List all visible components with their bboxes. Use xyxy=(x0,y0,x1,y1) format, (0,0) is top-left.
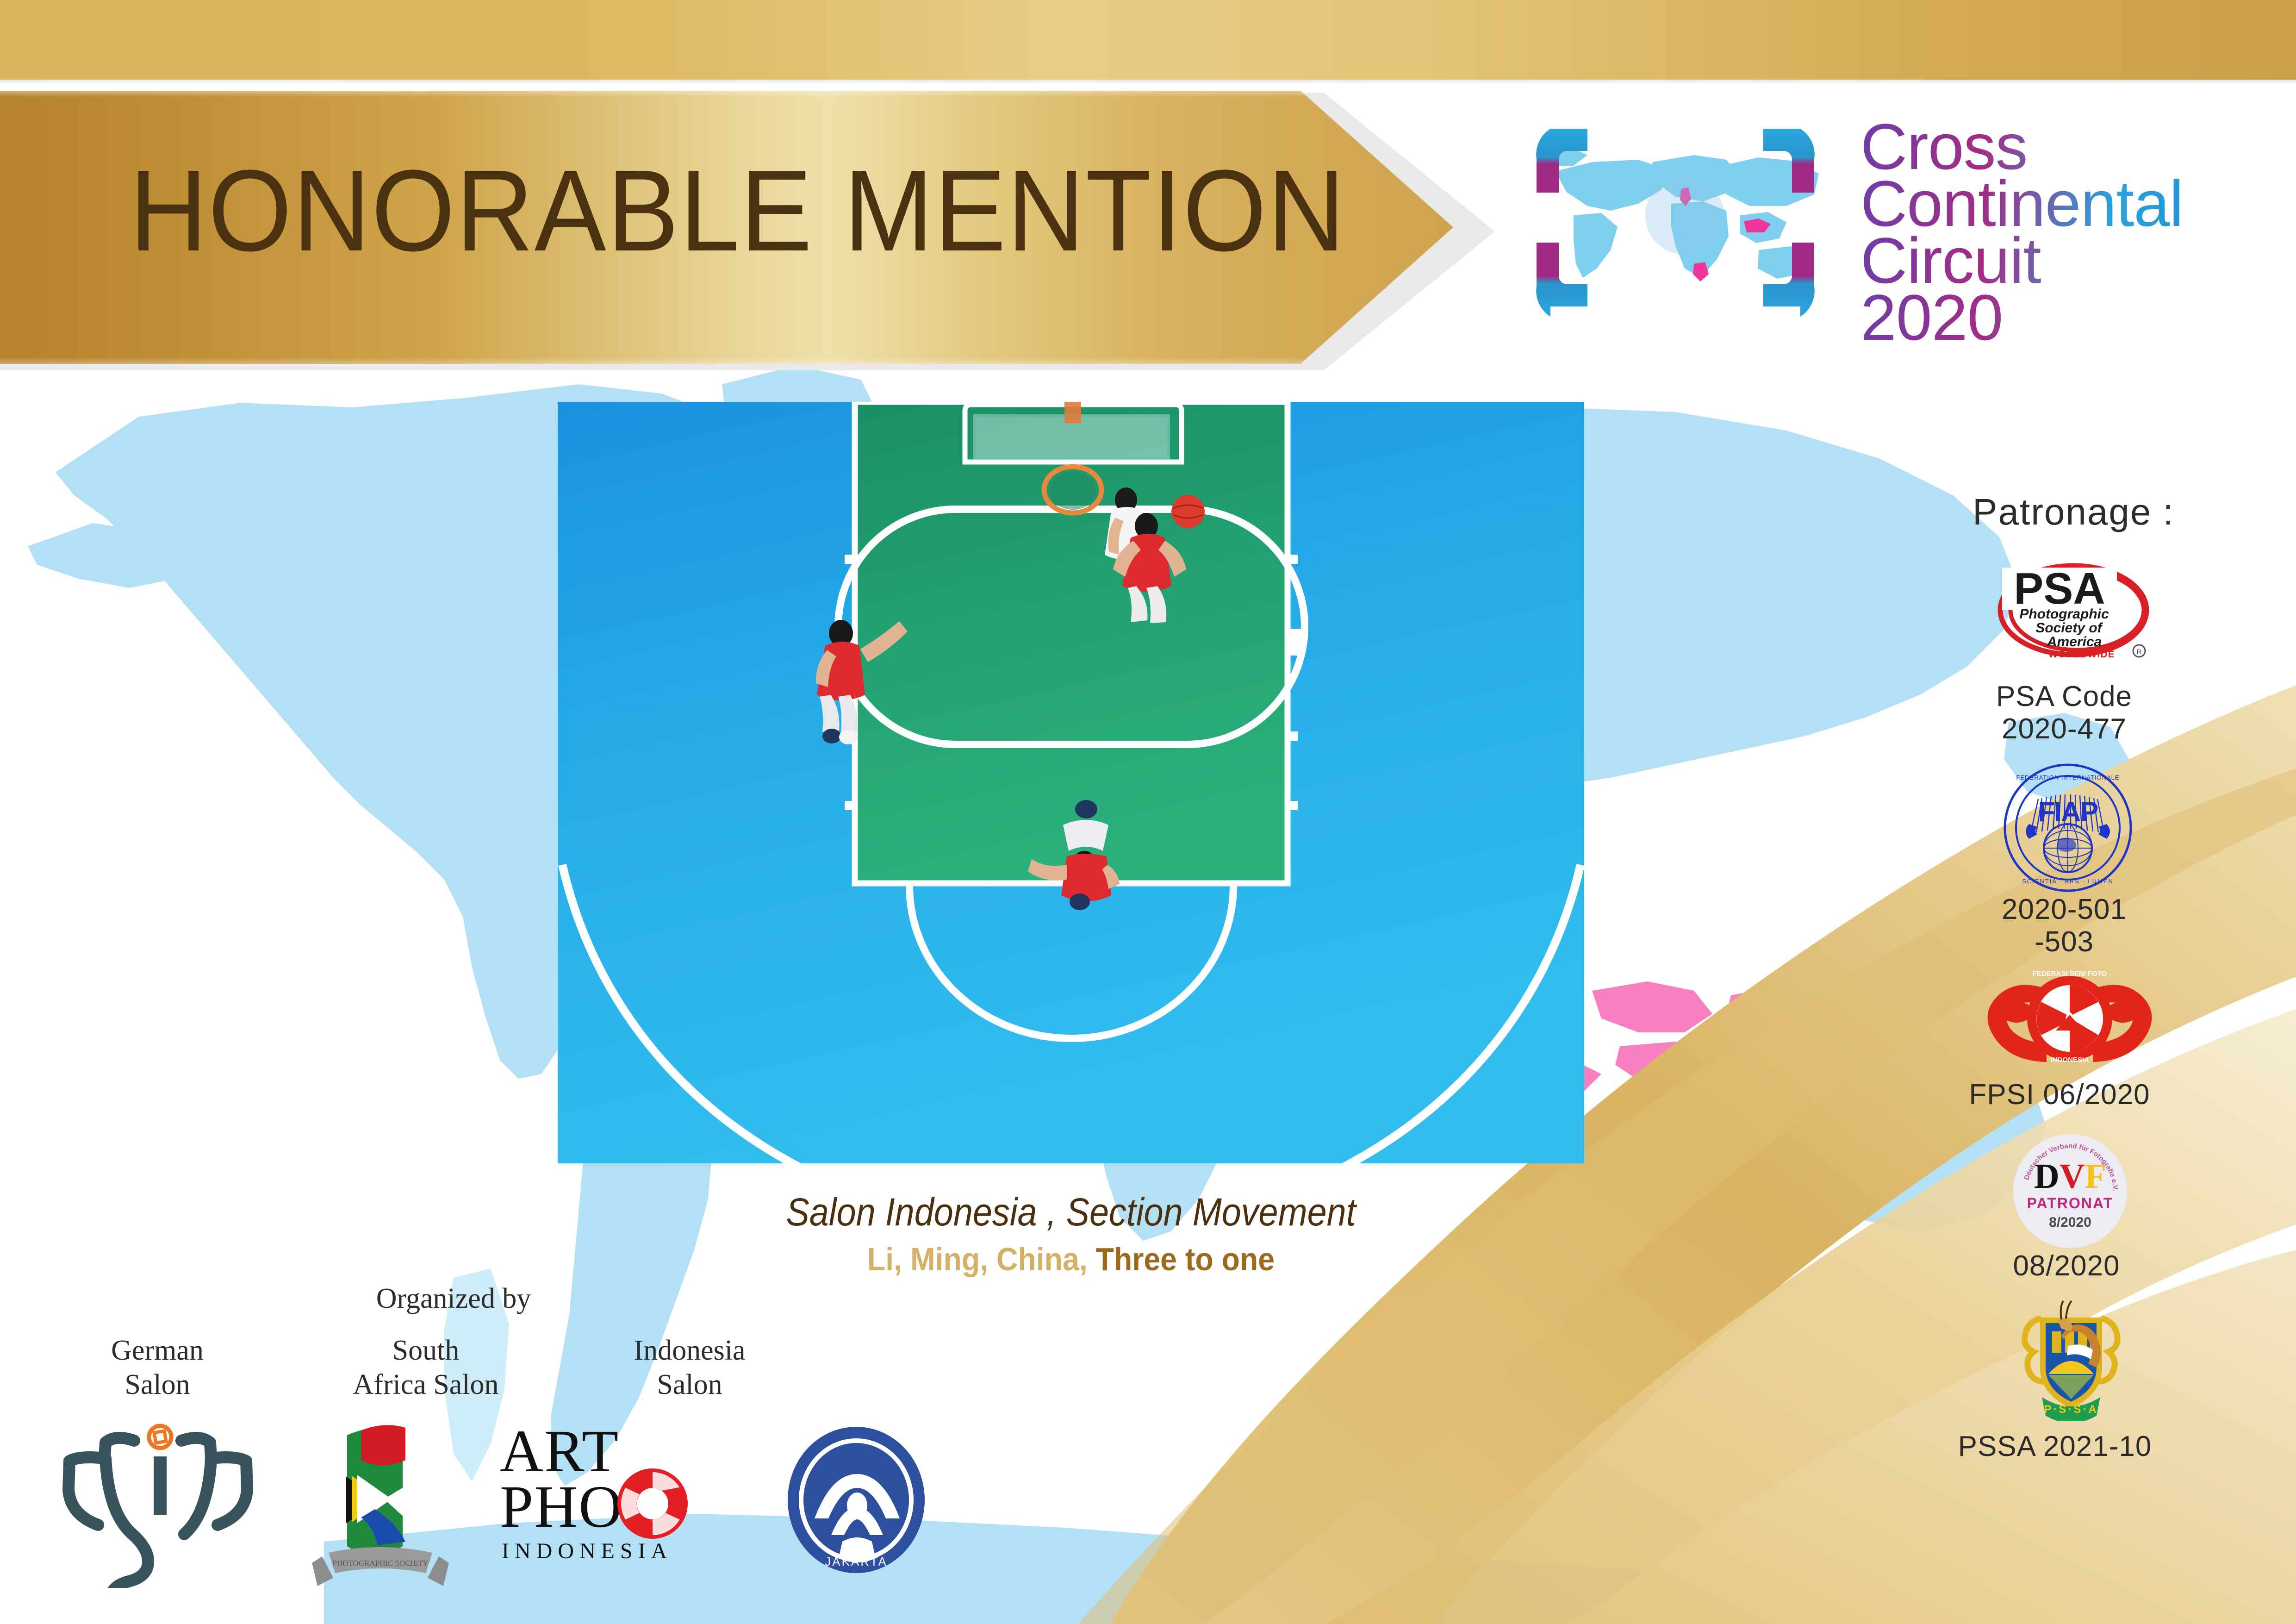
shutter-dot-icon xyxy=(149,1426,171,1448)
pssa-wordmark: P·S·S·A xyxy=(2044,1403,2098,1416)
pssa-caption-line1: PSSA 2021-10 xyxy=(1935,1430,2175,1463)
organized-by-heading: Organized by xyxy=(356,1282,551,1315)
fpsi-caption: FPSI 06/2020 xyxy=(1939,1079,2180,1111)
fiap-ring-text: FEDERATION INTERNATIONALE xyxy=(2016,774,2119,781)
photo-author: Li, Ming, China, xyxy=(867,1241,1088,1277)
brand-line-1: Cross xyxy=(1860,118,2183,175)
organizer-sa-line2: Africa Salon xyxy=(315,1368,537,1402)
organizer-german-line1: German xyxy=(60,1333,255,1368)
organizer-logos-row: PHOTOGRAPHIC SOCIETY ART PHOT INDONESIA … xyxy=(0,1417,972,1588)
fpsi-caption-line1: FPSI 06/2020 xyxy=(1939,1079,2180,1111)
fpsi-ring-text-2: · INDONESIA · xyxy=(2046,1056,2093,1064)
art-photo-indonesia-icon: ART PHOT INDONESIA xyxy=(500,1418,686,1563)
gold-top-strip xyxy=(0,0,2296,80)
award-banner-top-highlight xyxy=(0,91,1453,97)
svg-text:Society of: Society of xyxy=(2035,620,2103,636)
dvf-wordmark: DVF xyxy=(2034,1157,2106,1196)
svg-text:America: America xyxy=(2047,634,2102,650)
dvf-caption: 08/2020 xyxy=(1946,1250,2187,1282)
svg-text:Photographic: Photographic xyxy=(2019,606,2109,622)
pssa-caption: PSSA 2021-10 xyxy=(1935,1430,2175,1463)
award-banner-bottom-highlight xyxy=(0,357,1453,364)
cross-continental-circuit-wordmark: Cross Continental Circuit 2020 xyxy=(1860,118,2183,346)
organizer-german-line2: Salon xyxy=(60,1368,255,1402)
svg-text:PHOTOGRAPHIC SOCIETY: PHOTOGRAPHIC SOCIETY xyxy=(332,1559,428,1568)
dvf-patronat-icon: DVF PATRONAT 8/2020 Deutscher Verband fü… xyxy=(2012,1133,2128,1249)
fiap-seal-icon: FIAP FEDERATION INTERNATIONALE SCIENTIA … xyxy=(2003,763,2133,893)
fiap-caption-line1: 2020-501 xyxy=(1944,893,2184,926)
cross-continental-circuit-logo-icon xyxy=(1500,111,1851,324)
photo-author-title-caption: Li, Ming, China, Three to one xyxy=(599,1241,1543,1278)
photo-salon-caption: Salon Indonesia , Section Movement xyxy=(609,1190,1533,1235)
organizer-label-german: German Salon xyxy=(60,1333,255,1402)
lembaga-fotografi-candra-naya-icon: JAKARTA xyxy=(788,1427,925,1573)
dvf-year-label: 8/2020 xyxy=(2049,1215,2091,1230)
dvf-caption-line1: 08/2020 xyxy=(1946,1250,2187,1282)
pssa-springbok-crest-icon: P·S·S·A xyxy=(2013,1292,2129,1421)
fpsi-logo-icon: FEDERASI SENI FOTO · INDONESIA · xyxy=(1986,963,2153,1074)
svg-text:WORLDWIDE: WORLDWIDE xyxy=(2048,649,2115,660)
organizer-sa-line1: South xyxy=(315,1333,537,1368)
fiap-caption-line2: -503 xyxy=(1944,926,2184,958)
art-photo-line3: INDONESIA xyxy=(502,1539,672,1563)
psa-caption-line2: 2020-477 xyxy=(1944,713,2184,745)
svg-text:R: R xyxy=(2137,648,2142,656)
award-title: HONORABLE MENTION xyxy=(130,153,1346,269)
brand-line-4: 2020 xyxy=(1860,289,2183,346)
organizer-id-line2: Salon xyxy=(592,1368,787,1402)
organizer-label-south-africa: South Africa Salon xyxy=(315,1333,537,1402)
dvf-patronat-label: PATRONAT xyxy=(2027,1195,2114,1212)
brand-line-2: Continental xyxy=(1860,175,2183,232)
psa-caption-line1: PSA Code xyxy=(1944,681,2184,713)
patronage-heading: Patronage : xyxy=(1962,491,2184,533)
photo-title: Three to one xyxy=(1096,1241,1275,1277)
psa-logo-icon: PSA Photographic Society of America WORL… xyxy=(1995,556,2152,667)
organizer-label-indonesia: Indonesia Salon xyxy=(592,1333,787,1402)
fiap-wordmark: FIAP xyxy=(2038,796,2098,827)
fiap-motto: SCIENTIA · ARS · LUMEN xyxy=(2022,878,2114,885)
psa-caption: PSA Code 2020-477 xyxy=(1944,681,2184,745)
south-africa-flag-crest-icon: PHOTOGRAPHIC SOCIETY xyxy=(312,1425,449,1586)
gold-top-strip-shadow xyxy=(0,80,2296,84)
fpsi-ring-text: FEDERASI SENI FOTO xyxy=(2033,970,2107,978)
brand-line-3: Circuit xyxy=(1860,232,2183,289)
svg-text:PSA: PSA xyxy=(2014,564,2105,613)
svg-text:JAKARTA: JAKARTA xyxy=(825,1555,888,1568)
organizer-id-line1: Indonesia xyxy=(592,1333,787,1368)
awarded-photograph xyxy=(558,402,1584,1163)
fiap-caption: 2020-501 -503 xyxy=(1944,893,2184,958)
